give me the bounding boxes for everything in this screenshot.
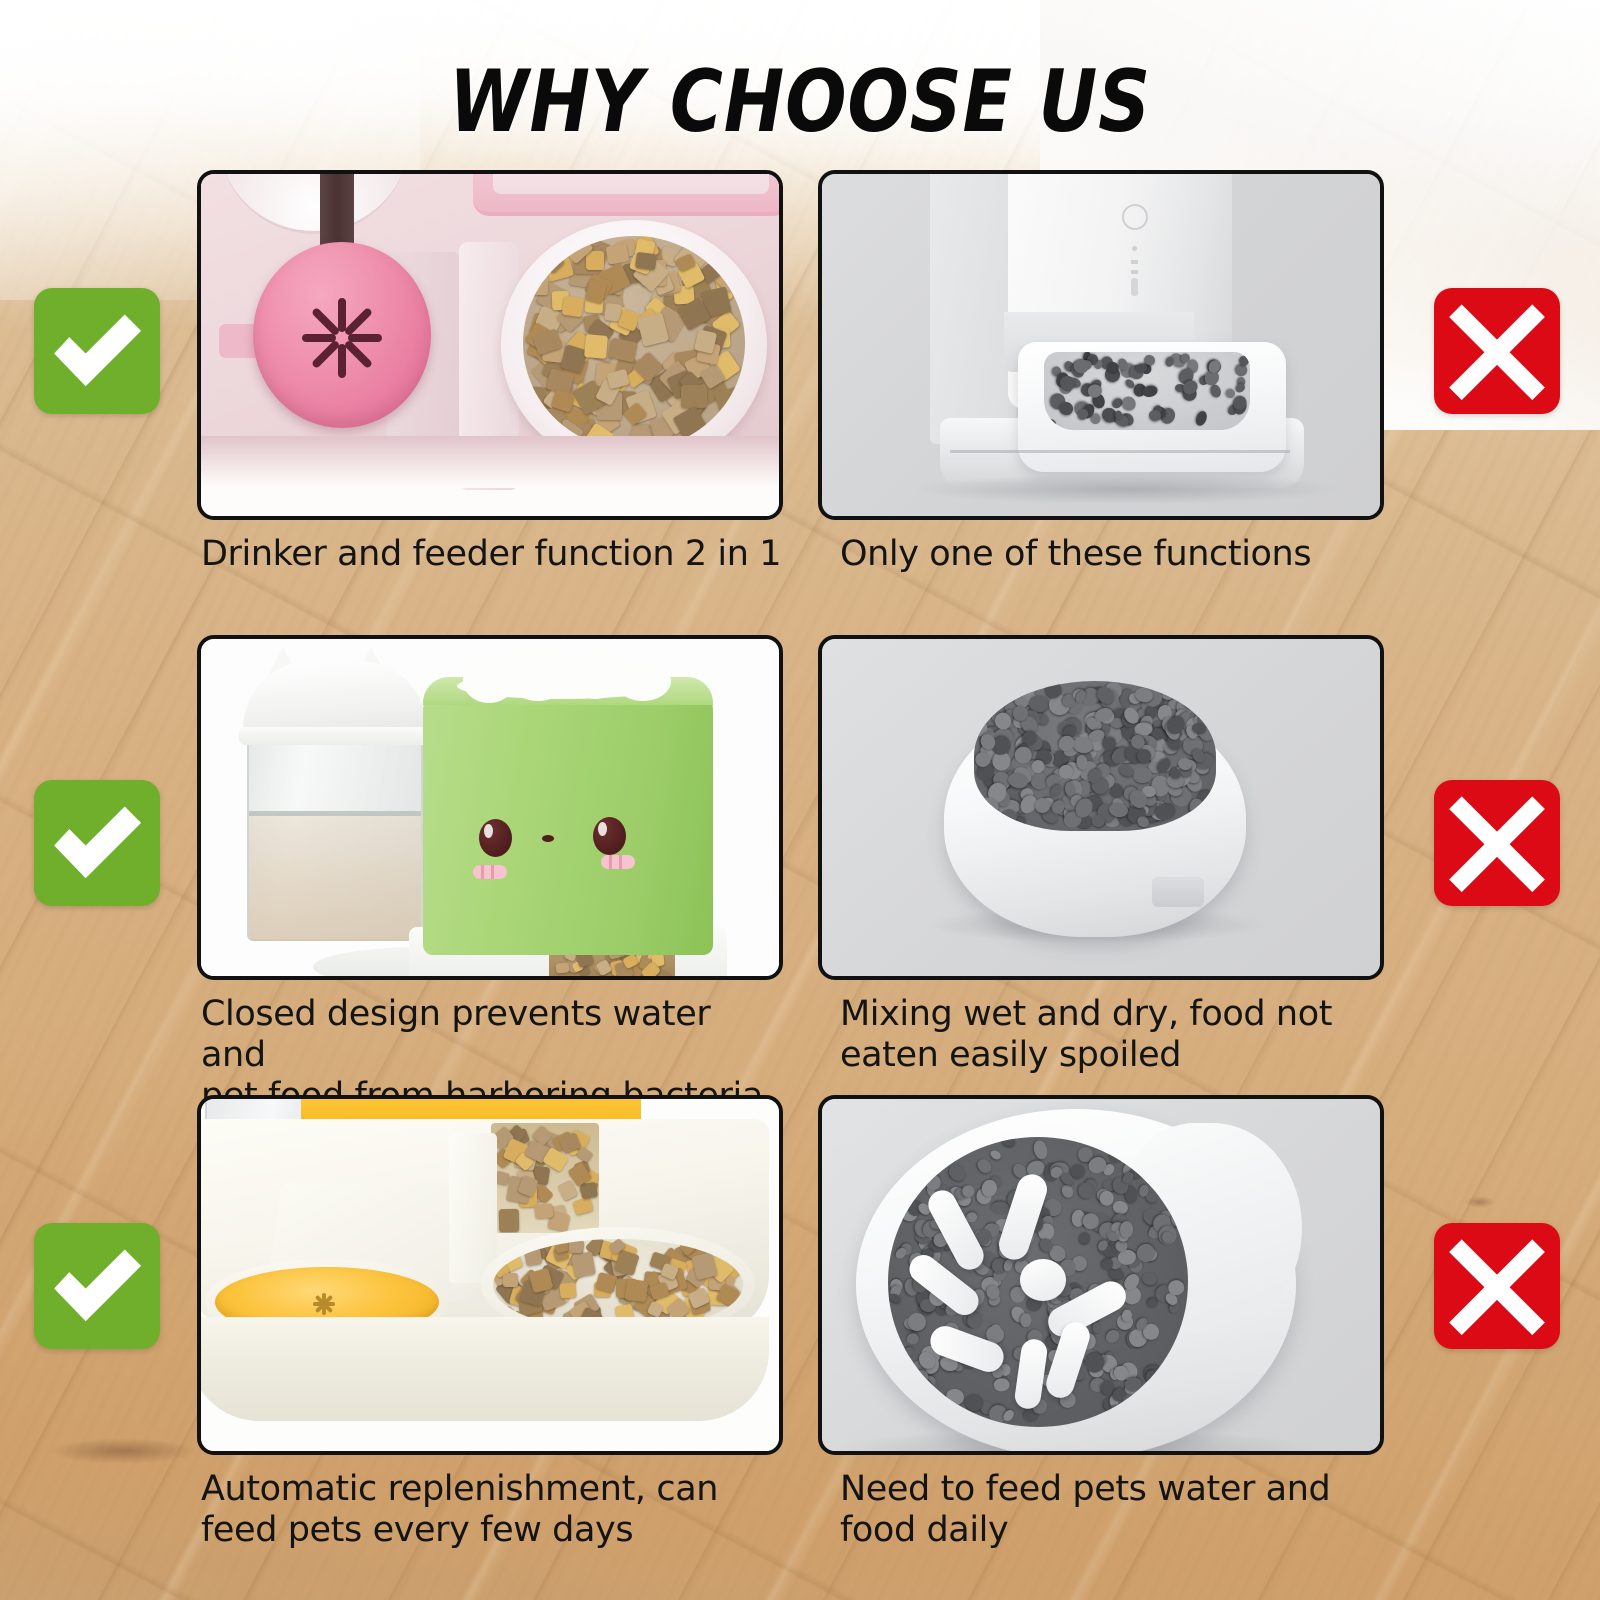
product-photo-slow-feeder-bowl (818, 1095, 1384, 1455)
cross-icon (1434, 288, 1560, 414)
product-photo-auto-replenish-feeder (197, 1095, 783, 1455)
check-icon (34, 780, 160, 906)
page-title: WHY CHOOSE US (128, 52, 1472, 152)
con-caption: Need to feed pets water and food daily (840, 1469, 1384, 1551)
check-icon (34, 1223, 160, 1349)
pro-cell: Closed design prevents water and pet foo… (197, 635, 783, 1117)
pro-cell: Drinker and feeder function 2 in 1 (197, 170, 783, 575)
product-photo-green-closed-feeder (197, 635, 783, 980)
con-cell: Only one of these functions (818, 170, 1384, 575)
pro-caption: Drinker and feeder function 2 in 1 (201, 534, 783, 575)
product-photo-single-function-feeder (818, 170, 1384, 520)
pro-cell: Automatic replenishment, can feed pets e… (197, 1095, 783, 1551)
cross-icon (1434, 780, 1560, 906)
con-caption: Only one of these functions (840, 534, 1384, 575)
pro-caption: Automatic replenishment, can feed pets e… (201, 1469, 783, 1551)
con-cell: Mixing wet and dry, food not eaten easil… (818, 635, 1384, 1076)
product-photo-plain-bowl (818, 635, 1384, 980)
con-caption: Mixing wet and dry, food not eaten easil… (840, 994, 1384, 1076)
con-cell: Need to feed pets water and food daily (818, 1095, 1384, 1551)
check-icon (34, 288, 160, 414)
cross-icon (1434, 1223, 1560, 1349)
product-photo-pink-feeder (197, 170, 783, 520)
